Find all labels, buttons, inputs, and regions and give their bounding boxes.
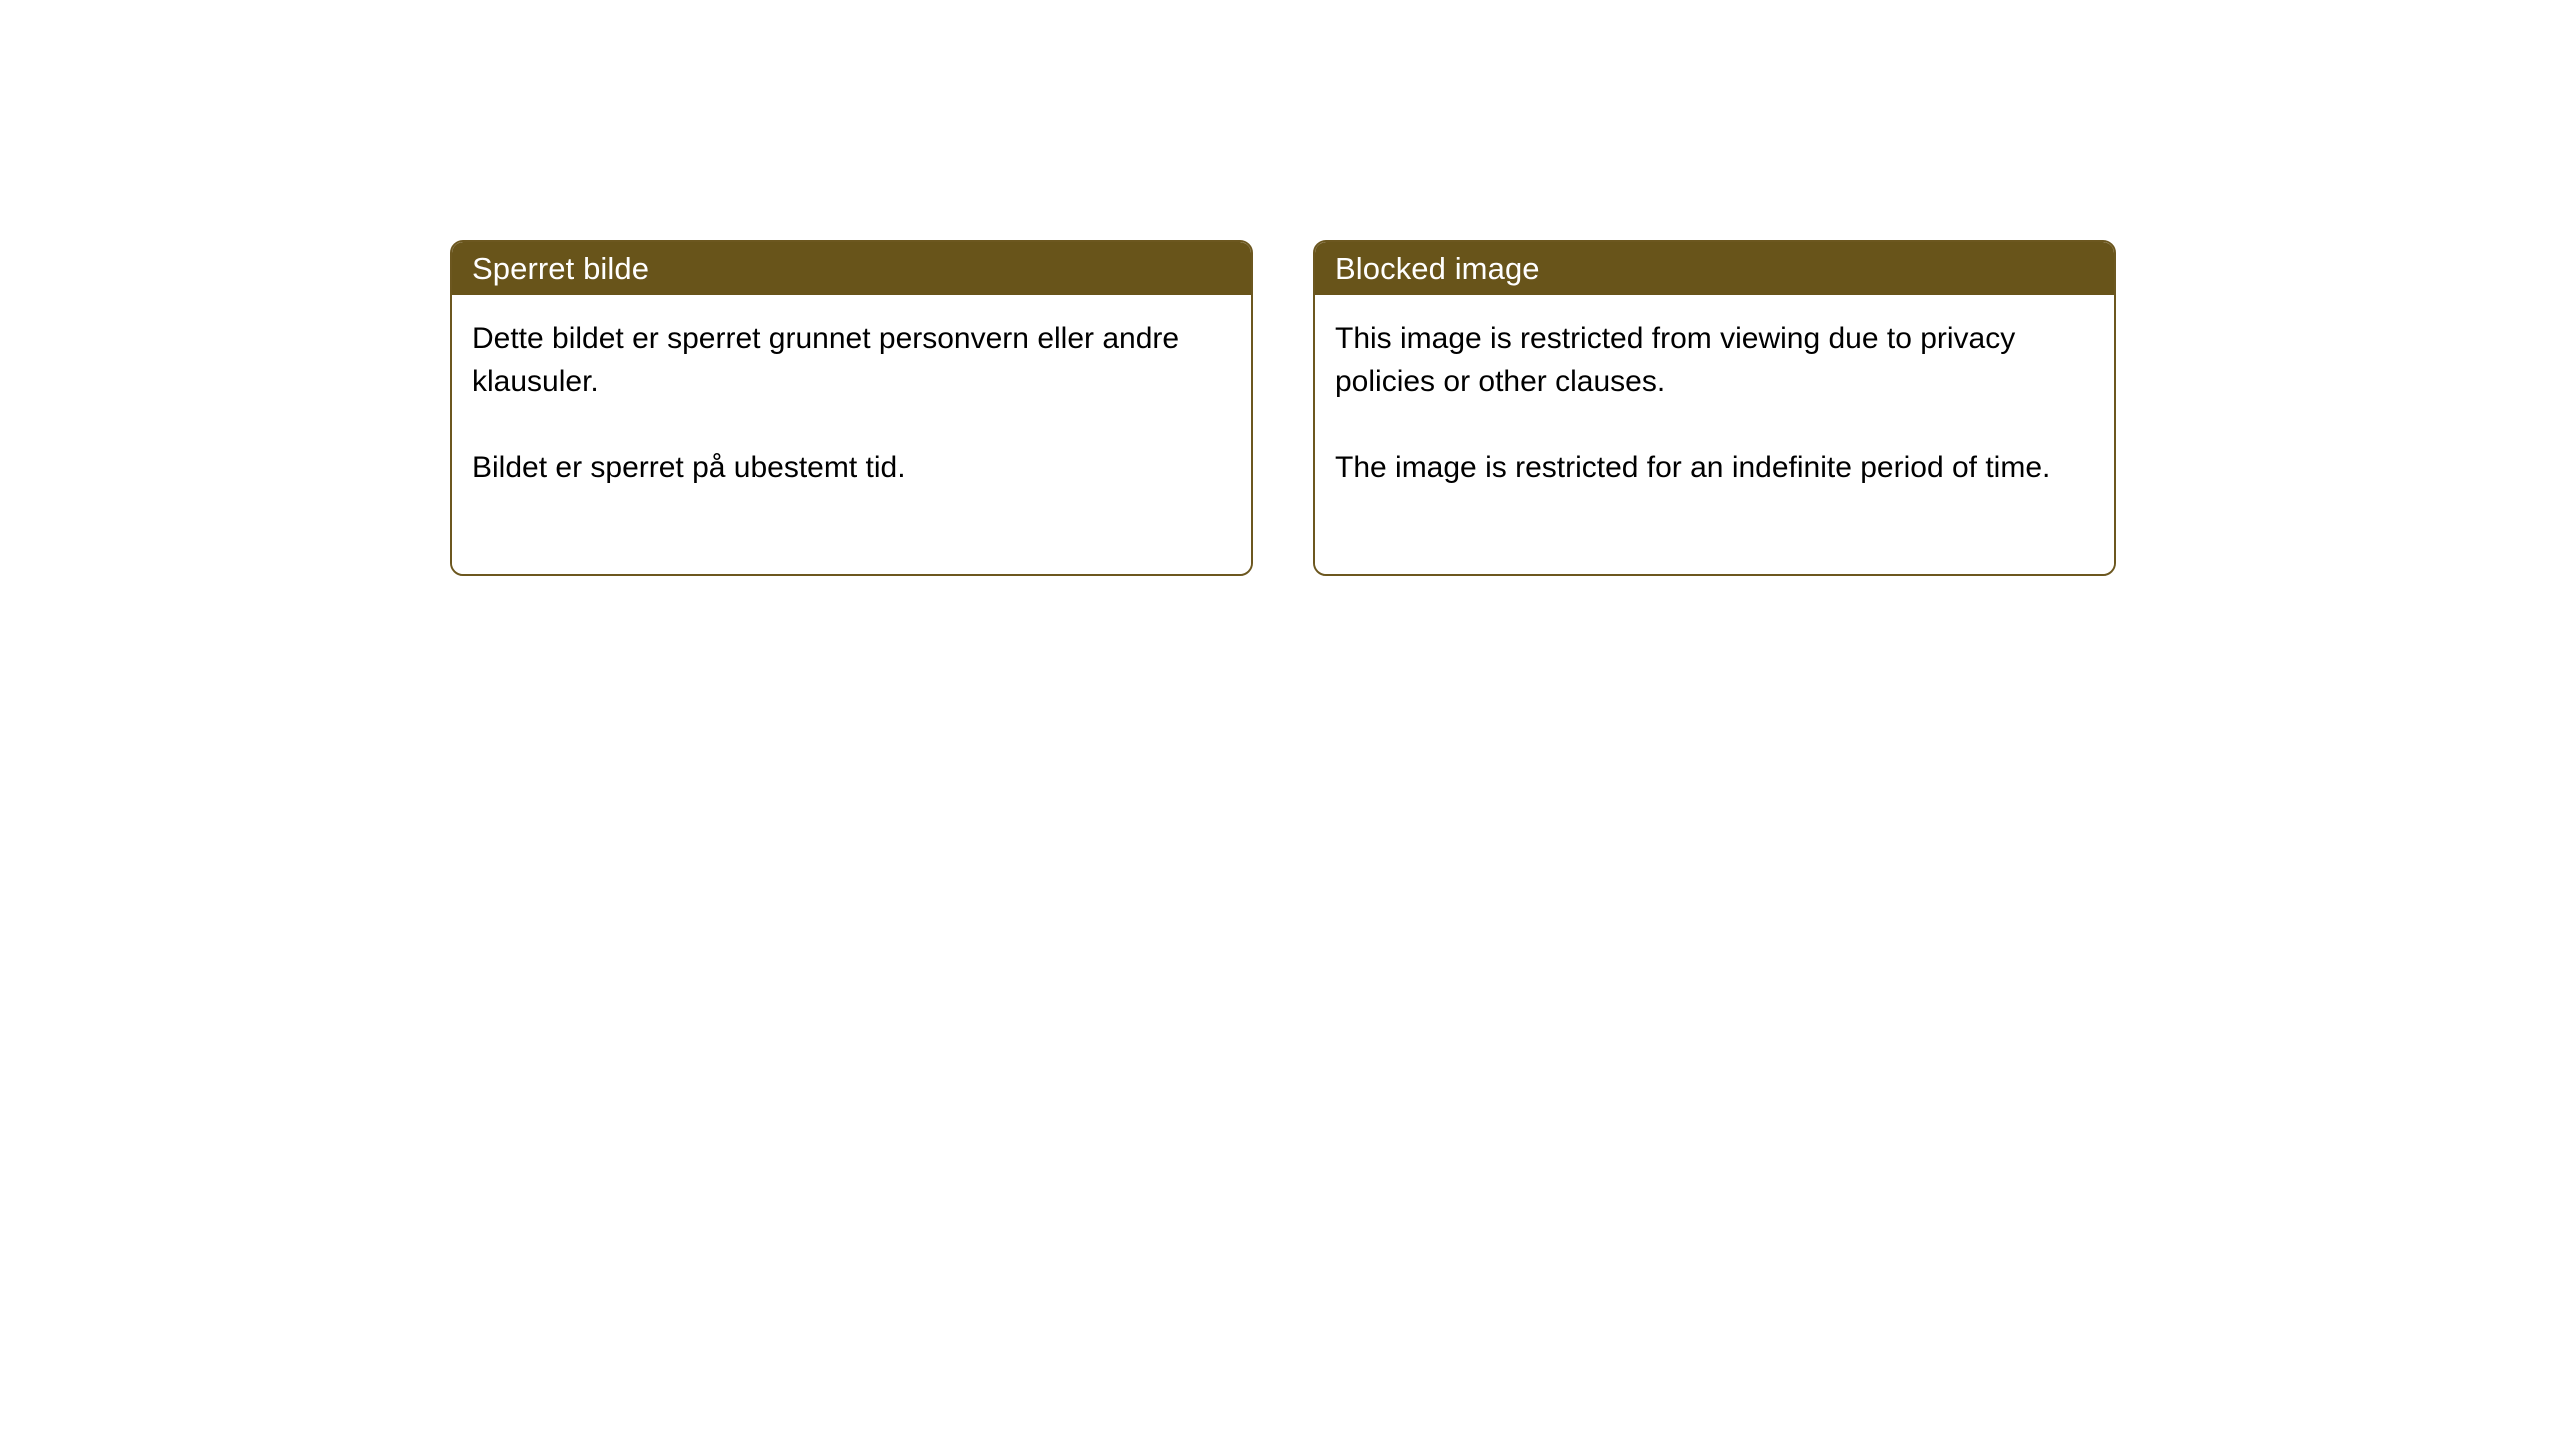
notice-card-row: Sperret bilde Dette bildet er sperret gr… [450, 240, 2116, 576]
card-header-english: Blocked image [1315, 242, 2114, 295]
blocked-image-card-norwegian: Sperret bilde Dette bildet er sperret gr… [450, 240, 1253, 576]
card-paragraph-duration-english: The image is restricted for an indefinit… [1335, 446, 2094, 489]
card-paragraph-reason-norwegian: Dette bildet er sperret grunnet personve… [472, 317, 1231, 403]
card-paragraph-duration-norwegian: Bildet er sperret på ubestemt tid. [472, 446, 1231, 489]
card-title-english: Blocked image [1335, 242, 1540, 295]
card-paragraph-reason-english: This image is restricted from viewing du… [1335, 317, 2094, 403]
card-body-norwegian: Dette bildet er sperret grunnet personve… [452, 295, 1251, 574]
card-title-norwegian: Sperret bilde [472, 242, 649, 295]
blocked-image-card-english: Blocked image This image is restricted f… [1313, 240, 2116, 576]
card-body-english: This image is restricted from viewing du… [1315, 295, 2114, 574]
card-header-norwegian: Sperret bilde [452, 242, 1251, 295]
page-root: Sperret bilde Dette bildet er sperret gr… [0, 0, 2560, 1440]
